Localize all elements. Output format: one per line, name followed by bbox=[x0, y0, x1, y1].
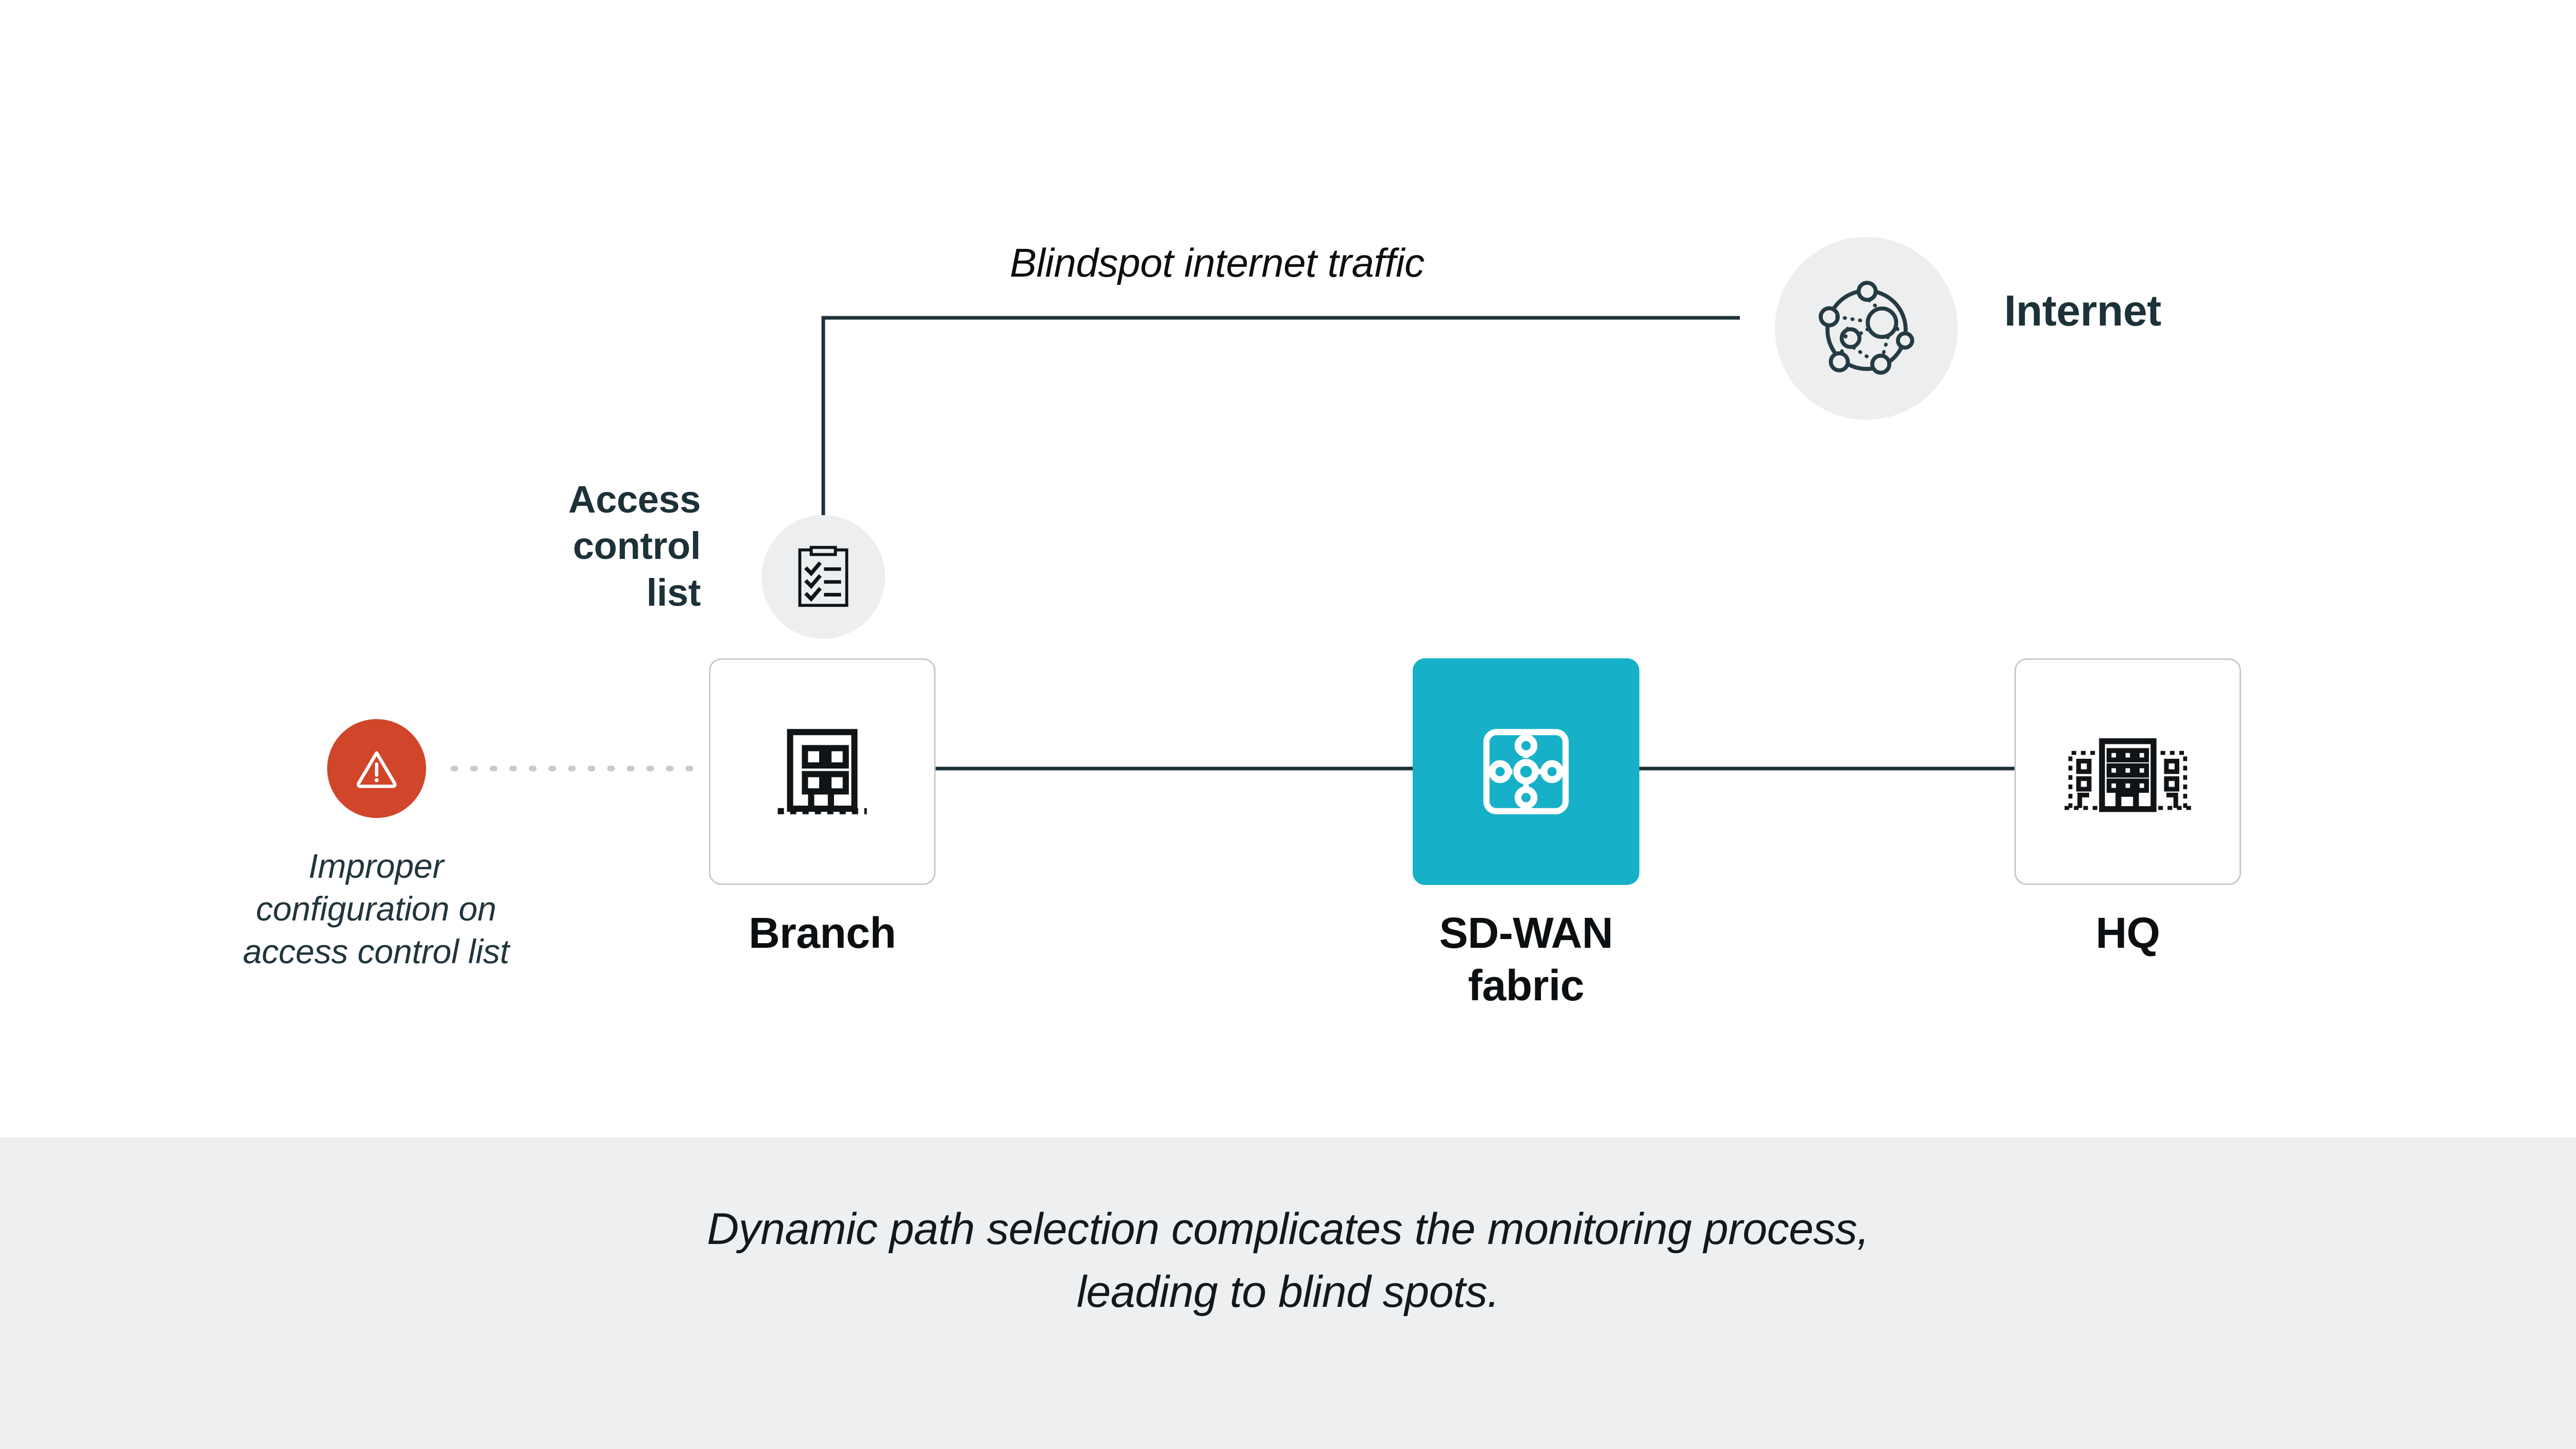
internet-node[interactable] bbox=[1775, 237, 1958, 420]
acl-label-line-2: control bbox=[464, 523, 701, 569]
alert-badge[interactable] bbox=[327, 719, 426, 818]
node-hq-label: HQ bbox=[2014, 907, 2241, 959]
caption-line-2: leading to blind spots. bbox=[0, 1260, 2576, 1323]
improper-label-line-1: Improper bbox=[144, 845, 608, 888]
node-branch[interactable] bbox=[709, 658, 936, 885]
diagram-canvas: Blindspot internet traffic Internet bbox=[0, 0, 2576, 1449]
warning-triangle-icon bbox=[349, 741, 404, 796]
node-sdwan-label: SD-WAN fabric bbox=[1382, 907, 1670, 1012]
globe-network-icon bbox=[1807, 269, 1926, 388]
acl-label-line-3: list bbox=[464, 570, 701, 616]
office-building-icon bbox=[760, 710, 884, 833]
access-control-list-node[interactable] bbox=[761, 515, 885, 639]
access-control-list-label: Access control list bbox=[464, 476, 701, 616]
caption-text: Dynamic path selection complicates the m… bbox=[0, 1198, 2576, 1323]
headquarters-buildings-icon bbox=[2063, 707, 2192, 836]
internet-label: Internet bbox=[2004, 286, 2161, 336]
node-hq[interactable] bbox=[2014, 658, 2241, 885]
node-branch-label: Branch bbox=[709, 907, 936, 959]
node-sdwan-label-line-1: SD-WAN bbox=[1382, 907, 1670, 959]
improper-label-line-2: configuration on bbox=[144, 888, 608, 930]
node-sdwan-fabric[interactable] bbox=[1413, 658, 1639, 885]
clipboard-checklist-icon bbox=[788, 541, 859, 612]
improper-label-line-3: access control list bbox=[144, 930, 608, 973]
acl-label-line-1: Access bbox=[464, 476, 701, 523]
blindspot-wire-label: Blindspot internet traffic bbox=[1010, 240, 1425, 286]
caption-line-1: Dynamic path selection complicates the m… bbox=[0, 1198, 2576, 1260]
improper-configuration-label: Improper configuration on access control… bbox=[144, 845, 608, 973]
wire-branch-internet bbox=[823, 318, 1740, 528]
mesh-fabric-icon bbox=[1464, 710, 1588, 833]
node-sdwan-label-line-2: fabric bbox=[1382, 959, 1670, 1012]
